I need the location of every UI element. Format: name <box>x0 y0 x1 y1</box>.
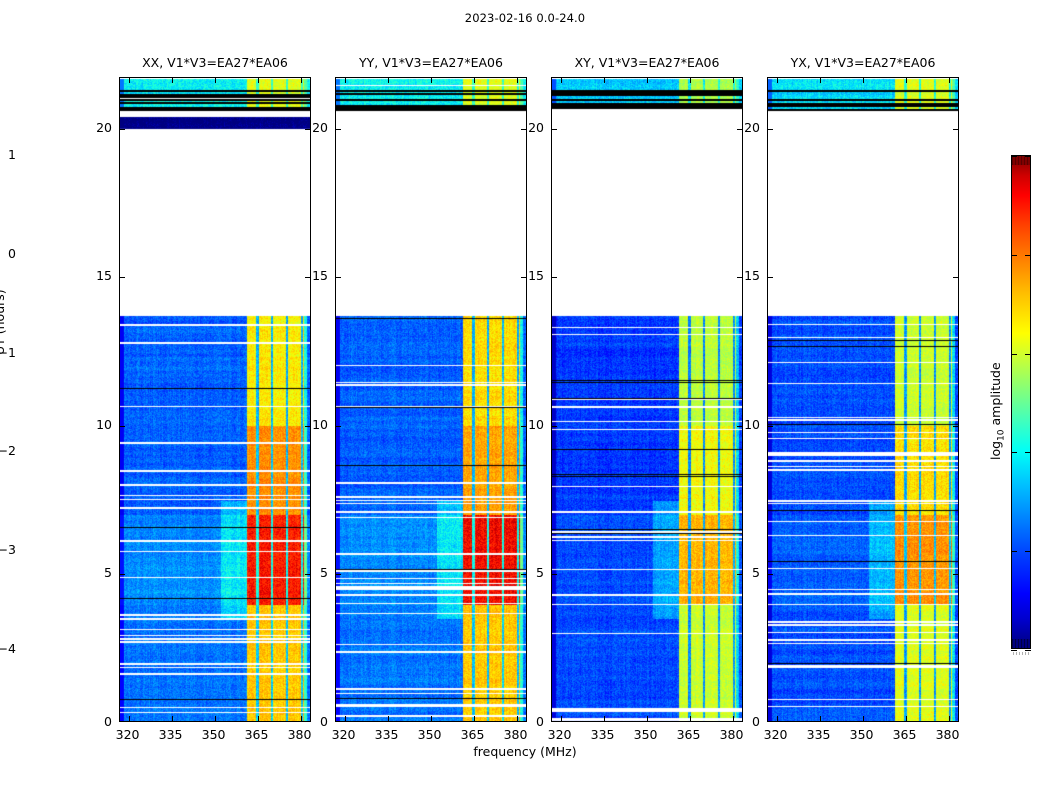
heatmap-panel-xx[interactable] <box>119 77 311 722</box>
x-tick-label-365: 365 <box>669 727 709 742</box>
x-tick <box>820 716 821 721</box>
colorbar-label: log10 amplitude <box>988 362 1007 460</box>
panel-title-yx: YX, V1*V3=EA27*EA06 <box>767 55 959 70</box>
colorbar-tick <box>1011 551 1017 552</box>
y-tick <box>336 574 341 575</box>
x-tick <box>215 78 216 83</box>
colorbar-tick <box>1025 650 1031 651</box>
x-tick <box>733 78 734 83</box>
y-tick <box>552 426 557 427</box>
x-tick <box>388 78 389 83</box>
panel-title-xy: XY, V1*V3=EA27*EA06 <box>551 55 743 70</box>
y-tick-label-15: 15 <box>294 268 328 283</box>
y-tick <box>768 574 773 575</box>
y-tick-label-15: 15 <box>510 268 544 283</box>
colorbar-tick-label: −2 <box>0 443 16 458</box>
x-tick-label-320: 320 <box>324 727 364 742</box>
heatmap-image <box>120 78 311 722</box>
y-tick <box>120 129 125 130</box>
heatmap-panel-xy[interactable] <box>551 77 743 722</box>
heatmap-image <box>552 78 743 722</box>
colorbar-tick <box>1025 354 1031 355</box>
y-tick <box>552 129 557 130</box>
y-tick-label-5: 5 <box>510 565 544 580</box>
x-tick-label-335: 335 <box>367 727 407 742</box>
x-tick <box>301 78 302 83</box>
x-tick-label-335: 335 <box>799 727 839 742</box>
x-tick <box>863 78 864 83</box>
x-tick-label-350: 350 <box>194 727 234 742</box>
x-tick-label-365: 365 <box>885 727 925 742</box>
x-tick <box>172 78 173 83</box>
x-tick-label-320: 320 <box>108 727 148 742</box>
x-tick <box>647 716 648 721</box>
x-tick <box>215 716 216 721</box>
colorbar-tick <box>1011 156 1017 157</box>
y-tick <box>336 129 341 130</box>
figure-canvas: 2023-02-16 0.0-24.0 XX, V1*V3=EA27*EA06 … <box>0 0 1050 800</box>
x-tick-label-380: 380 <box>496 727 536 742</box>
x-tick <box>949 78 950 83</box>
x-tick <box>172 716 173 721</box>
x-tick-label-335: 335 <box>583 727 623 742</box>
colorbar-tick-label: −1 <box>0 345 16 360</box>
x-tick <box>258 78 259 83</box>
x-tick-label-320: 320 <box>540 727 580 742</box>
x-tick-label-380: 380 <box>928 727 968 742</box>
y-tick-label-10: 10 <box>726 417 760 432</box>
y-tick-label-15: 15 <box>78 268 112 283</box>
x-tick <box>604 78 605 83</box>
colorbar-label-sub: 10 <box>997 429 1007 440</box>
y-tick <box>336 426 341 427</box>
colorbar[interactable] <box>1011 155 1031 649</box>
colorbar-label-prefix: log <box>988 441 1003 460</box>
x-axis-label: frequency (MHz) <box>0 744 1050 759</box>
x-tick <box>777 716 778 721</box>
x-tick <box>604 716 605 721</box>
x-tick-label-335: 335 <box>151 727 191 742</box>
colorbar-tick <box>1025 551 1031 552</box>
x-tick <box>517 78 518 83</box>
y-tick <box>336 277 341 278</box>
y-tick-label-10: 10 <box>78 417 112 432</box>
y-tick <box>768 277 773 278</box>
colorbar-tick-label: −4 <box>0 641 16 656</box>
y-tick <box>552 277 557 278</box>
x-tick <box>388 716 389 721</box>
colorbar-tick <box>1025 156 1031 157</box>
y-tick <box>120 277 125 278</box>
x-tick-label-350: 350 <box>410 727 450 742</box>
y-tick-label-10: 10 <box>294 417 328 432</box>
panel-title-yy: YY, V1*V3=EA27*EA06 <box>335 55 527 70</box>
x-tick <box>431 716 432 721</box>
y-tick-label-20: 20 <box>78 120 112 135</box>
colorbar-extend-max <box>1012 156 1030 165</box>
x-tick-label-380: 380 <box>712 727 752 742</box>
y-tick-label-5: 5 <box>78 565 112 580</box>
y-tick <box>120 426 125 427</box>
y-tick <box>953 277 958 278</box>
x-tick <box>863 716 864 721</box>
colorbar-label-main: amplitude <box>988 362 1003 425</box>
x-tick <box>345 78 346 83</box>
y-tick-label-20: 20 <box>294 120 328 135</box>
x-tick <box>561 78 562 83</box>
y-tick-label-5: 5 <box>294 565 328 580</box>
x-tick <box>777 78 778 83</box>
colorbar-tick-label: −3 <box>0 542 16 557</box>
x-tick <box>258 716 259 721</box>
y-tick-label-20: 20 <box>726 120 760 135</box>
colorbar-extend-min <box>1012 639 1030 648</box>
heatmap-image <box>336 78 527 722</box>
y-tick <box>953 129 958 130</box>
y-tick <box>768 426 773 427</box>
y-tick <box>552 574 557 575</box>
x-tick <box>474 716 475 721</box>
colorbar-tick <box>1011 354 1017 355</box>
x-tick-label-350: 350 <box>626 727 666 742</box>
x-tick-label-350: 350 <box>842 727 882 742</box>
y-tick <box>953 574 958 575</box>
panel-title-xx: XX, V1*V3=EA27*EA06 <box>119 55 311 70</box>
x-tick <box>561 716 562 721</box>
y-tick <box>953 426 958 427</box>
colorbar-tick <box>1011 255 1017 256</box>
x-tick <box>431 78 432 83</box>
colorbar-tick-label: 0 <box>0 246 16 261</box>
x-tick <box>129 716 130 721</box>
y-tick-label-20: 20 <box>510 120 544 135</box>
x-tick-label-380: 380 <box>280 727 320 742</box>
x-tick <box>647 78 648 83</box>
x-tick <box>906 716 907 721</box>
y-tick <box>768 129 773 130</box>
colorbar-tick <box>1025 255 1031 256</box>
heatmap-panel-yy[interactable] <box>335 77 527 722</box>
x-tick <box>949 716 950 721</box>
x-tick-label-365: 365 <box>237 727 277 742</box>
colorbar-tick <box>1011 452 1017 453</box>
x-tick <box>690 716 691 721</box>
x-tick <box>474 78 475 83</box>
y-tick-label-15: 15 <box>726 268 760 283</box>
x-tick <box>345 716 346 721</box>
y-tick-label-5: 5 <box>726 565 760 580</box>
x-tick <box>129 78 130 83</box>
heatmap-panel-yx[interactable] <box>767 77 959 722</box>
figure-suptitle: 2023-02-16 0.0-24.0 <box>0 11 1050 25</box>
colorbar-tick-label: 1 <box>0 147 16 162</box>
colorbar-tick <box>1025 452 1031 453</box>
y-tick <box>120 574 125 575</box>
x-tick <box>690 78 691 83</box>
colorbar-under-marker <box>1013 652 1031 655</box>
heatmap-image <box>768 78 959 722</box>
x-tick-label-365: 365 <box>453 727 493 742</box>
x-tick-label-320: 320 <box>756 727 796 742</box>
x-tick <box>820 78 821 83</box>
y-tick-label-10: 10 <box>510 417 544 432</box>
x-tick <box>906 78 907 83</box>
colorbar-tick <box>1011 650 1017 651</box>
